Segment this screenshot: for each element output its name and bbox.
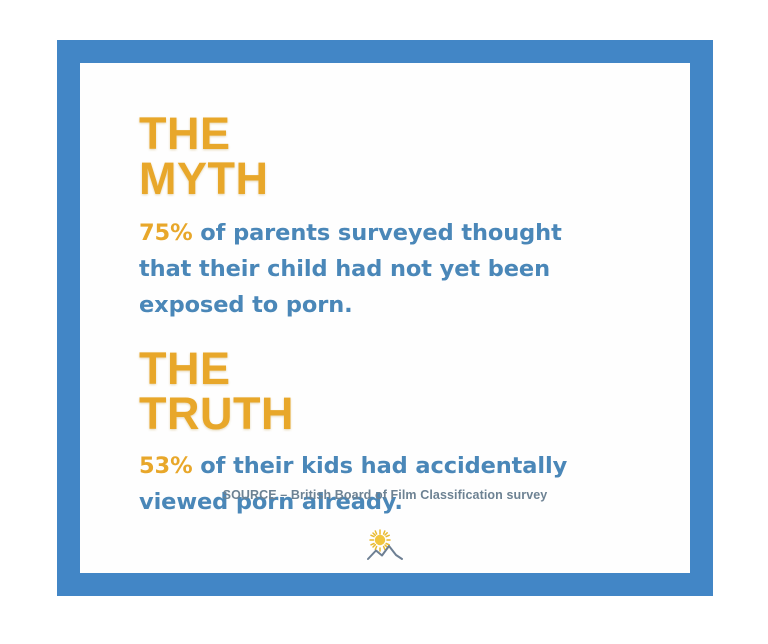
truth-heading: THE TRUTH <box>139 346 609 436</box>
sun-over-mountains-icon <box>365 529 405 563</box>
myth-stat-text: of parents surveyed thought that their c… <box>139 220 562 318</box>
myth-heading-line1: THE <box>139 108 231 159</box>
poster-panel: THE MYTH 75% of parents surveyed thought… <box>80 63 690 573</box>
source-citation: SOURCE – British Board of Film Classific… <box>80 488 690 502</box>
myth-statement: 75% of parents surveyed thought that the… <box>139 215 609 323</box>
truth-statement: 53% of their kids had accidentally viewe… <box>139 448 609 520</box>
myth-stat-value: 75% <box>139 220 193 246</box>
truth-heading-line2: TRUTH <box>139 391 609 436</box>
logo-container <box>80 529 690 563</box>
myth-heading: THE MYTH <box>139 111 609 201</box>
myth-heading-line2: MYTH <box>139 156 609 201</box>
poster-content: THE MYTH 75% of parents surveyed thought… <box>139 111 609 542</box>
truth-heading-line1: THE <box>139 343 231 394</box>
truth-stat-value: 53% <box>139 453 193 479</box>
poster-frame: THE MYTH 75% of parents surveyed thought… <box>57 40 713 596</box>
truth-stat-text: of their kids had accidentally viewed po… <box>139 453 567 515</box>
